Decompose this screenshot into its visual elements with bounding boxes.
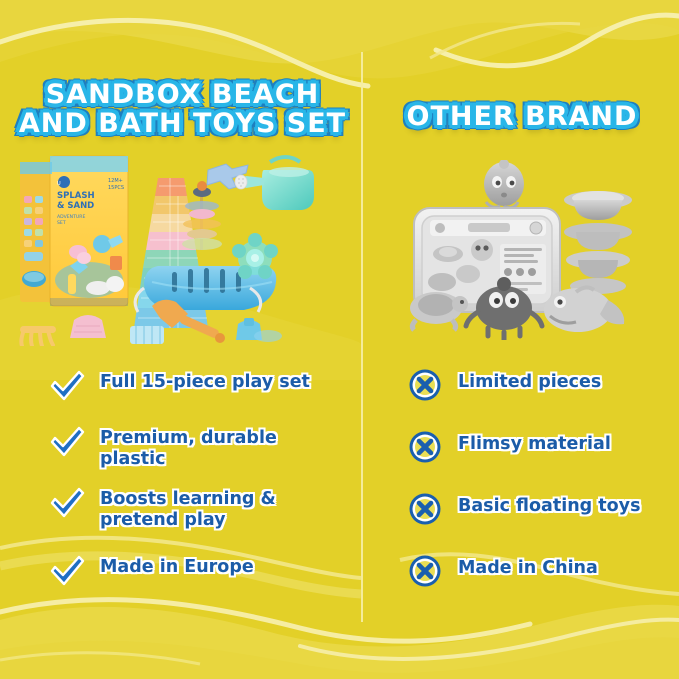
own-feature-list: Full 15-piece play set Premium, durable … bbox=[48, 368, 348, 609]
comparison-infographic: SANDBOX BEACH AND BATH TOYS SET bbox=[0, 0, 679, 679]
feature-label: Basic floating toys bbox=[458, 492, 641, 517]
grey-stacking-cups bbox=[564, 191, 632, 294]
feature-row: Boosts learning & pretend play bbox=[48, 485, 348, 532]
feature-label: Made in China bbox=[458, 554, 598, 579]
feature-label: Made in Europe bbox=[100, 553, 254, 578]
right-title: OTHER BRAND bbox=[375, 102, 669, 131]
feature-row: Full 15-piece play set bbox=[48, 368, 348, 404]
check-icon bbox=[48, 424, 88, 460]
cross-icon bbox=[408, 368, 442, 402]
product-box: U SPLASH & SAND ADVENTURE SET 12M+ 15PCS bbox=[20, 156, 128, 306]
right-column: OTHER BRAND bbox=[361, 0, 679, 679]
turtle-toy bbox=[410, 292, 468, 330]
svg-text:SET: SET bbox=[57, 220, 66, 226]
cross-icon bbox=[408, 554, 442, 588]
feature-row: Made in Europe bbox=[48, 553, 348, 589]
flower-spinner-toy bbox=[232, 233, 278, 279]
left-title: SANDBOX BEACH AND BATH TOYS SET bbox=[10, 80, 355, 138]
cross-icon bbox=[408, 492, 442, 526]
svg-text:15PCS: 15PCS bbox=[108, 185, 124, 191]
feature-label: Flimsy material bbox=[458, 430, 611, 455]
svg-text:12M+: 12M+ bbox=[108, 178, 123, 184]
feature-label: Full 15-piece play set bbox=[100, 368, 310, 393]
check-icon bbox=[48, 553, 88, 589]
svg-text:& SAND: & SAND bbox=[57, 201, 94, 211]
feature-row: Made in China bbox=[408, 554, 674, 588]
sand-rake bbox=[20, 326, 56, 346]
svg-text:ADVENTURE: ADVENTURE bbox=[57, 214, 85, 220]
left-column: SANDBOX BEACH AND BATH TOYS SET bbox=[0, 0, 361, 679]
feature-row: Flimsy material bbox=[408, 430, 674, 464]
feature-label: Limited pieces bbox=[458, 368, 601, 393]
feature-row: Basic floating toys bbox=[408, 492, 674, 526]
fish-toy bbox=[544, 287, 624, 332]
cross-icon bbox=[408, 430, 442, 464]
svg-text:U: U bbox=[57, 181, 61, 187]
feature-row: Limited pieces bbox=[408, 368, 674, 402]
check-icon bbox=[48, 368, 88, 404]
check-icon bbox=[48, 485, 88, 521]
feature-label: Premium, durable plastic bbox=[100, 424, 348, 471]
competitor-feature-list: Limited pieces Flimsy material bbox=[408, 368, 674, 616]
octopus-toy bbox=[484, 160, 524, 210]
feature-row: Premium, durable plastic bbox=[48, 424, 348, 471]
feature-label: Boosts learning & pretend play bbox=[100, 485, 348, 532]
svg-text:SPLASH: SPLASH bbox=[57, 191, 95, 201]
competitor-product-image bbox=[400, 160, 668, 340]
own-product-image: U SPLASH & SAND ADVENTURE SET 12M+ 15PCS bbox=[12, 148, 352, 346]
